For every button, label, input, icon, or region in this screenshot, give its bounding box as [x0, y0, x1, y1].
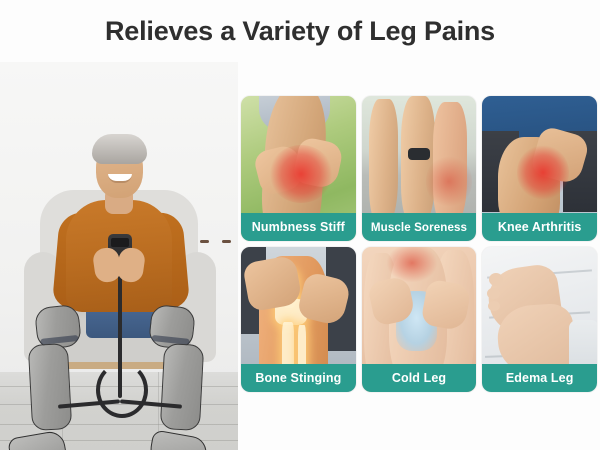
condition-tile-cold-leg[interactable]: Cold Leg: [362, 247, 477, 392]
condition-tile-edema-leg[interactable]: Edema Leg: [482, 247, 597, 392]
air-hose-loop: [96, 362, 148, 418]
condition-label: Cold Leg: [362, 364, 477, 392]
massager-calf-left: [28, 343, 72, 431]
condition-label: Edema Leg: [482, 364, 597, 392]
condition-grid: Numbness Stiff Muscle Soreness: [241, 96, 597, 392]
condition-tile-numbness-stiff[interactable]: Numbness Stiff: [241, 96, 356, 241]
condition-label: Muscle Soreness: [362, 213, 477, 241]
massager-calf-right: [160, 343, 204, 431]
condition-tile-muscle-soreness[interactable]: Muscle Soreness: [362, 96, 477, 241]
condition-tile-bone-stinging[interactable]: Bone Stinging: [241, 247, 356, 392]
condition-label: Knee Arthritis: [482, 213, 597, 241]
condition-label: Bone Stinging: [241, 364, 356, 392]
marketing-image: Relieves a Variety of Leg Pains: [0, 0, 600, 450]
lifestyle-photo: [0, 62, 238, 450]
person-hair: [92, 134, 147, 164]
page-title: Relieves a Variety of Leg Pains: [0, 16, 600, 47]
condition-label: Numbness Stiff: [241, 213, 356, 241]
condition-tile-knee-arthritis[interactable]: Knee Arthritis: [482, 96, 597, 241]
massager-thigh-right: [148, 304, 196, 350]
